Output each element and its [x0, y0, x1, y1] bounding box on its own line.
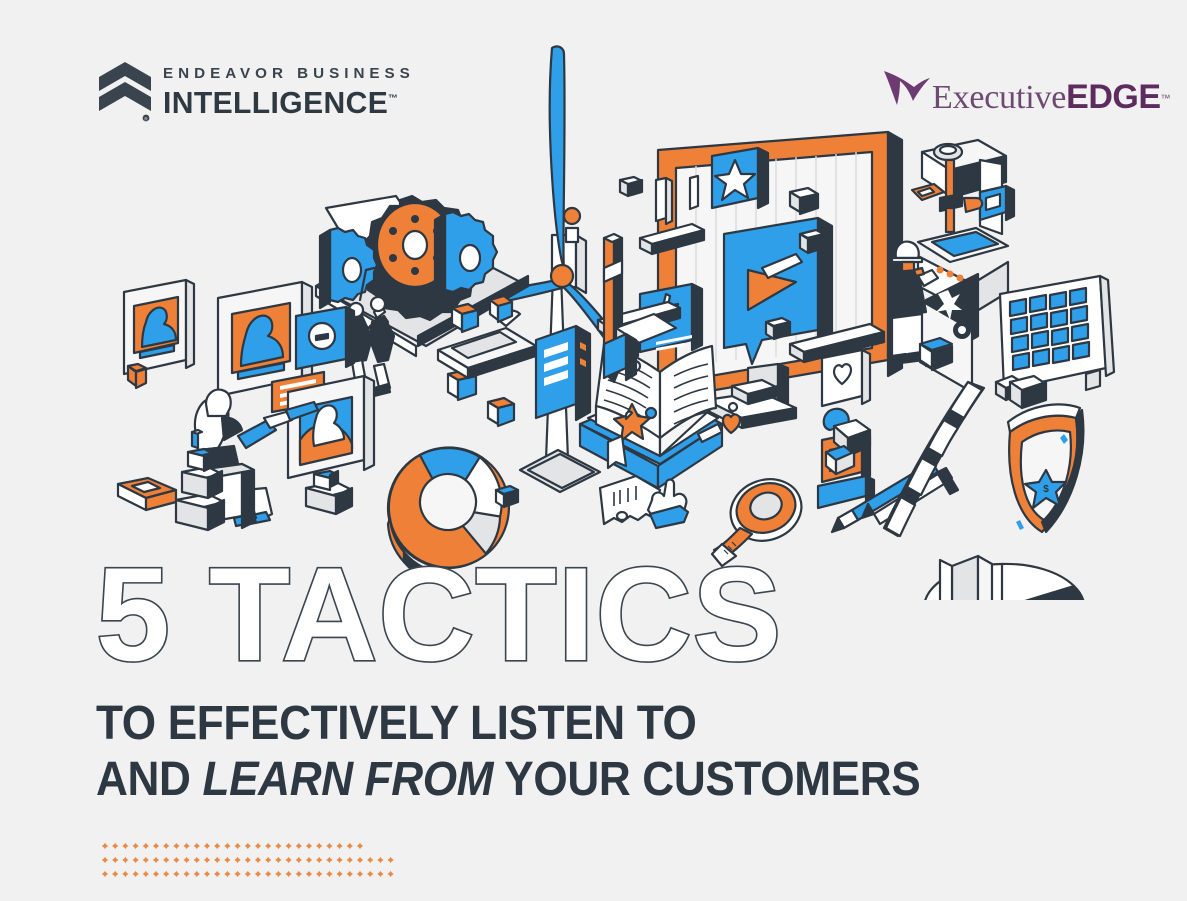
desktop-monitor-icon	[598, 132, 902, 508]
cnc-machine-icon	[912, 140, 1014, 392]
poster-page: .st { stroke:#2d3843; stroke-width:2.2; …	[0, 0, 1187, 901]
worker-illustration-left	[348, 268, 394, 396]
subtitle-line-2: AND LEARN FROM YOUR CUSTOMERS	[96, 752, 1016, 808]
endeavor-chevron-mark: R	[99, 62, 151, 122]
video-call-screens-icon	[124, 280, 374, 478]
solar-panel-icon	[1000, 276, 1114, 390]
svg-text:$: $	[1043, 484, 1049, 495]
endeavor-logo-line2: INTELLIGENCE™	[163, 87, 407, 119]
open-book-icon	[580, 344, 740, 488]
endeavor-logo-line1: ENDEAVOR BUSINESS	[163, 66, 415, 81]
executive-edge-wordmark: ExecutiveEDGE™	[932, 78, 1171, 117]
pencil-icon-2	[862, 474, 958, 524]
executive-edge-logo[interactable]: ExecutiveEDGE™	[880, 78, 1171, 117]
gear-small	[320, 228, 377, 308]
receipt-icon	[600, 476, 660, 524]
subtitle-line-1: TO EFFECTIVELY LISTEN TO	[96, 696, 1016, 752]
shield-star-icon: $	[1008, 404, 1083, 532]
endeavor-trademark: ™	[388, 94, 398, 105]
subtitle-emphasis: LEARN FROM	[202, 753, 493, 806]
executive-edge-bird-mark	[880, 69, 930, 113]
seated-woman-illustration	[118, 390, 352, 530]
gear-medium	[435, 212, 497, 300]
subtitle-post: YOUR CUSTOMERS	[493, 753, 920, 806]
worker-hardhat-illustration	[892, 242, 938, 364]
pen-icon	[604, 234, 622, 382]
executive-word: Executive	[932, 79, 1066, 116]
small-orange-marker-icon	[128, 364, 146, 388]
subtitle-pre: AND	[96, 753, 202, 806]
misc-props	[438, 296, 1046, 507]
pencil-icon	[832, 462, 952, 532]
page-title: 5 TACTICS	[96, 552, 1096, 678]
edge-trademark: ™	[1161, 94, 1171, 105]
endeavor-business-intelligence-logo[interactable]: R ENDEAVOR BUSINESS INTELLIGENCE™	[99, 62, 415, 122]
cursor-hand-icon	[648, 480, 688, 529]
gears-icon	[316, 196, 528, 356]
headline-block: 5 TACTICS TO EFFECTIVELY LISTEN TO AND L…	[96, 552, 1096, 808]
gear-large	[360, 196, 482, 320]
curved-track-icon	[884, 376, 1022, 536]
orange-diamond-dot-pattern	[100, 840, 400, 885]
wind-turbine-icon	[408, 46, 662, 492]
edge-word: EDGE	[1066, 78, 1160, 116]
